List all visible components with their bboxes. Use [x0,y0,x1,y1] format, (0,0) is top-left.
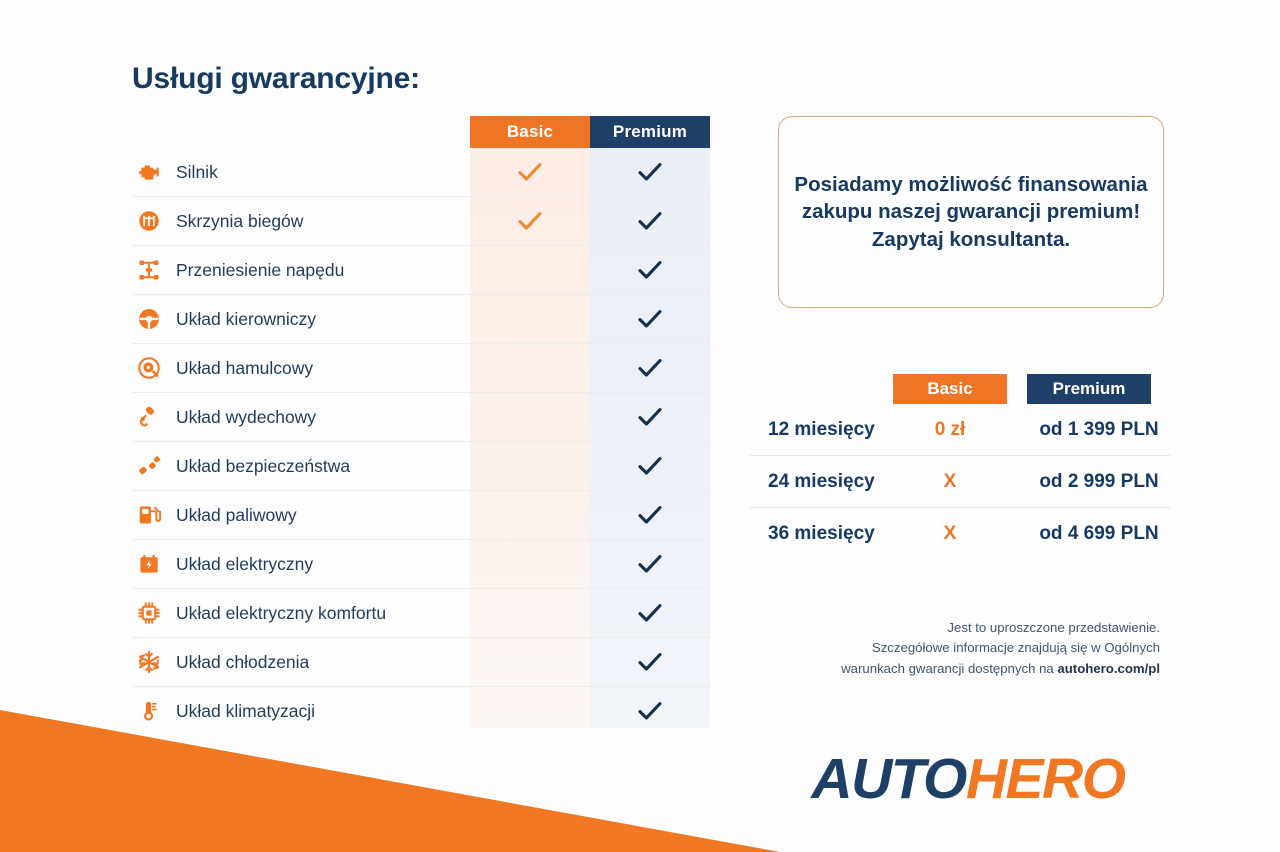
gearbox-icon [132,206,166,236]
page-title: Usługi gwarancyjne: [132,62,420,96]
premium-availability-cell [590,491,710,539]
premium-availability-cell [590,393,710,441]
price-premium-value: od 2 999 PLN [1027,456,1171,507]
premium-availability-cell [590,148,710,196]
column-header-premium: Premium [590,116,710,148]
service-row: Układ wydechowy [132,393,710,442]
autohero-website-link[interactable]: autohero.com/pl [1057,661,1160,676]
price-row: 24 miesięcyXod 2 999 PLN [750,456,1170,508]
service-label: Układ bezpieczeństwa [176,456,350,477]
logo-text-hero: HERO [966,751,1125,808]
service-row: Układ chłodzenia [132,638,710,687]
price-basic-value: 0 zł [893,404,1007,455]
service-row: Układ klimatyzacji [132,687,710,735]
service-label: Układ wydechowy [176,407,316,428]
service-row: Układ bezpieczeństwa [132,442,710,491]
financing-promo-text: Posiadamy możliwość finansowania zakupu … [779,171,1163,252]
exhaust-icon [132,402,166,432]
disclaimer-line-3-prefix: warunkach gwarancji dostępnych na [841,661,1057,676]
disclaimer: Jest to uproszczone przedstawienie. Szcz… [740,618,1160,679]
price-premium-value: od 4 699 PLN [1027,508,1171,559]
price-premium-value: od 1 399 PLN [1027,404,1171,455]
basic-availability-cell [470,687,590,735]
service-row: Skrzynia biegów [132,197,710,246]
basic-availability-cell [470,344,590,392]
premium-availability-cell [590,344,710,392]
steering-wheel-icon [132,304,166,334]
service-row: Układ kierowniczy [132,295,710,344]
service-row: Układ elektryczny komfortu [132,589,710,638]
basic-availability-cell [470,442,590,490]
price-row: 12 miesięcy0 złod 1 399 PLN [750,404,1170,456]
service-label: Skrzynia biegów [176,211,303,232]
disclaimer-line-1: Jest to uproszczone przedstawienie. [740,618,1160,638]
price-basic-value: X [893,508,1007,559]
basic-availability-cell [470,540,590,588]
service-label: Układ hamulcowy [176,358,313,379]
price-basic-value: X [893,456,1007,507]
basic-availability-cell [470,589,590,637]
service-label: Układ kierowniczy [176,309,316,330]
basic-availability-cell [470,491,590,539]
premium-availability-cell [590,197,710,245]
price-table: Basic Premium 12 miesięcy0 złod 1 399 PL… [750,374,1170,559]
service-label: Układ paliwowy [176,505,297,526]
fuel-pump-icon [132,500,166,530]
price-term: 12 miesięcy [768,404,875,455]
basic-availability-cell [470,246,590,294]
price-row: 36 miesięcyXod 4 699 PLN [750,508,1170,559]
snowflake-icon [132,647,166,677]
autohero-logo: AUTOHERO [758,744,1178,814]
price-header-premium: Premium [1027,374,1151,404]
logo-text-auto: AUTO [811,751,965,808]
poster-canvas: Usługi gwarancyjne: Basic Premium Silnik… [0,0,1280,852]
chip-icon [132,598,166,628]
premium-availability-cell [590,246,710,294]
premium-availability-cell [590,589,710,637]
thermometer-icon [132,696,166,726]
price-term: 24 miesięcy [768,456,875,507]
service-label: Układ elektryczny komfortu [176,603,386,624]
premium-availability-cell [590,540,710,588]
premium-availability-cell [590,638,710,686]
service-row: Układ hamulcowy [132,344,710,393]
service-label: Układ elektryczny [176,554,313,575]
warranty-services-panel: Usługi gwarancyjne: Basic Premium Silnik… [0,0,740,852]
price-term: 36 miesięcy [768,508,875,559]
column-header-basic: Basic [470,116,590,148]
brake-disc-icon [132,353,166,383]
battery-icon [132,549,166,579]
service-row: Układ paliwowy [132,491,710,540]
seatbelt-icon [132,451,166,481]
basic-availability-cell [470,295,590,343]
service-label: Układ chłodzenia [176,652,309,673]
premium-availability-cell [590,295,710,343]
basic-availability-cell [470,148,590,196]
financing-promo-box: Posiadamy możliwość finansowania zakupu … [778,116,1164,308]
service-row: Przeniesienie napędu [132,246,710,295]
engine-icon [132,157,166,187]
offer-panel: Posiadamy możliwość finansowania zakupu … [740,0,1280,852]
disclaimer-line-2: Szczegółowe informacje znajdują się w Og… [740,638,1160,658]
price-header-basic: Basic [893,374,1007,404]
basic-availability-cell [470,197,590,245]
service-row: Układ elektryczny [132,540,710,589]
disclaimer-line-3: warunkach gwarancji dostępnych na autohe… [740,659,1160,679]
basic-availability-cell [470,393,590,441]
service-row: Silnik [132,148,710,197]
service-label: Silnik [176,162,218,183]
drivetrain-icon [132,255,166,285]
service-label: Przeniesienie napędu [176,260,344,281]
service-label: Układ klimatyzacji [176,701,315,722]
services-list: SilnikSkrzynia biegówPrzeniesienie napęd… [132,148,710,735]
premium-availability-cell [590,442,710,490]
premium-availability-cell [590,687,710,735]
price-table-body: 12 miesięcy0 złod 1 399 PLN24 miesięcyXo… [750,404,1170,559]
basic-availability-cell [470,638,590,686]
price-table-header-row: Basic Premium [750,374,1170,404]
